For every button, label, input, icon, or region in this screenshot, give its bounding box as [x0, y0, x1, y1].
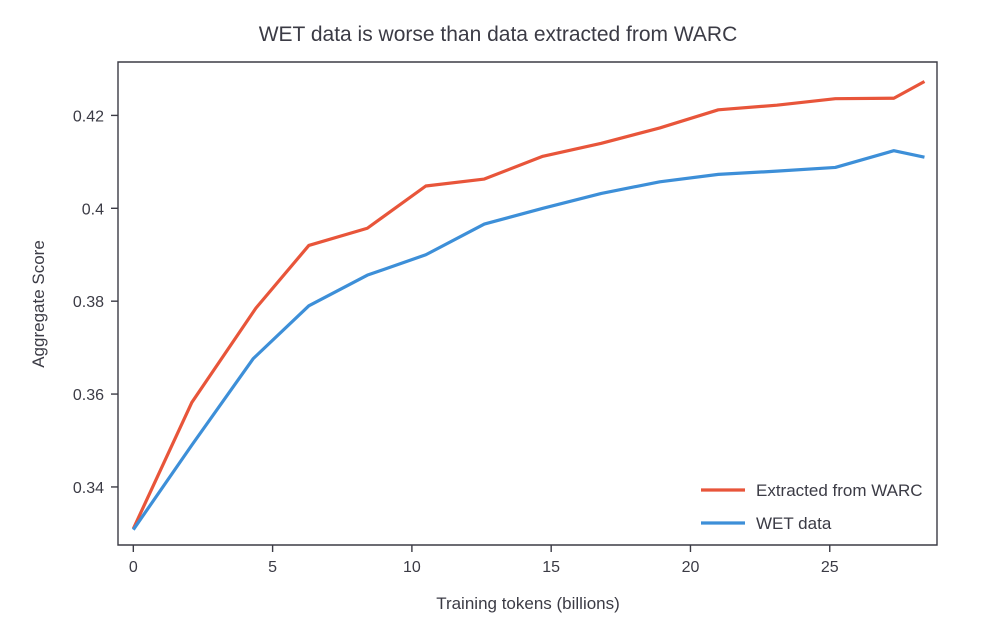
x-tick-label: 25 — [821, 559, 839, 576]
line-chart: WET data is worse than data extracted fr… — [0, 0, 996, 624]
x-tick-label: 15 — [542, 559, 560, 576]
x-tick-label: 0 — [129, 559, 138, 576]
figure-background — [0, 0, 996, 624]
x-tick-label: 10 — [403, 559, 421, 576]
y-tick-label: 0.4 — [82, 201, 104, 218]
y-tick-label: 0.34 — [73, 480, 104, 497]
x-tick-label: 20 — [682, 559, 700, 576]
y-tick-label: 0.38 — [73, 294, 104, 311]
legend-label-2: WET data — [756, 514, 832, 533]
chart-figure: WET data is worse than data extracted fr… — [0, 0, 996, 624]
x-axis-label: Training tokens (billions) — [436, 594, 620, 613]
chart-title: WET data is worse than data extracted fr… — [259, 23, 738, 46]
x-tick-label: 5 — [268, 559, 277, 576]
legend-label-1: Extracted from WARC — [756, 481, 923, 500]
y-tick-label: 0.36 — [73, 387, 104, 404]
y-tick-label: 0.42 — [73, 108, 104, 125]
y-axis-label: Aggregate Score — [29, 240, 48, 368]
